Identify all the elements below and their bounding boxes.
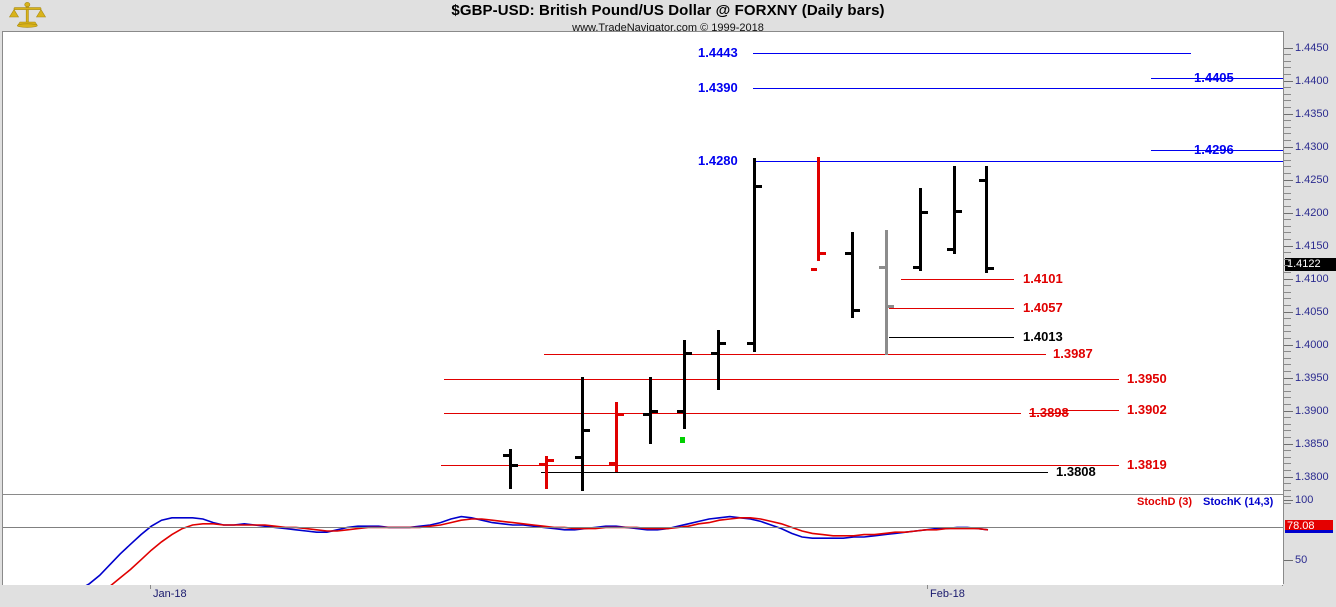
ohlc-bar — [919, 188, 922, 271]
level-label: 1.4013 — [1023, 330, 1063, 343]
axis-minor-tick — [1284, 259, 1291, 260]
price-axis-label: 1.4250 — [1295, 175, 1329, 186]
price-axis-label: 1.4400 — [1295, 76, 1329, 87]
axis-minor-tick — [1284, 358, 1291, 359]
stoch-axis-tick — [1284, 560, 1293, 561]
axis-minor-tick — [1284, 417, 1291, 418]
stoch-legend-item: StochD (3) — [1137, 496, 1192, 508]
axis-minor-tick — [1284, 384, 1291, 385]
level-label: 1.4101 — [1023, 272, 1063, 285]
axis-minor-tick — [1284, 292, 1291, 293]
bar-close-tick — [956, 210, 962, 213]
axis-minor-tick — [1284, 252, 1291, 253]
axis-minor-tick — [1284, 74, 1291, 75]
stoch-lines — [3, 495, 1283, 585]
level-label: 1.3987 — [1053, 347, 1093, 360]
level-line — [753, 161, 1283, 162]
axis-minor-tick — [1284, 239, 1291, 240]
axis-minor-tick — [1284, 173, 1291, 174]
bar-open-tick — [947, 248, 953, 251]
axis-minor-tick — [1284, 331, 1291, 332]
axis-tick — [1284, 213, 1293, 214]
ohlc-bar — [953, 166, 956, 254]
bar-close-tick — [720, 342, 726, 345]
axis-minor-tick — [1284, 232, 1291, 233]
bar-close-tick — [652, 410, 658, 413]
ohlc-bar — [717, 330, 720, 390]
ohlc-bar — [615, 402, 618, 472]
level-label: 1.3808 — [1056, 465, 1096, 478]
axis-minor-tick — [1284, 503, 1291, 504]
axis-tick — [1284, 444, 1293, 445]
stoch-series-line — [17, 518, 988, 585]
level-label: 1.4280 — [698, 154, 738, 167]
price-axis-label: 1.3850 — [1295, 439, 1329, 450]
axis-minor-tick — [1284, 397, 1291, 398]
bar-stem — [885, 230, 888, 355]
axis-minor-tick — [1284, 120, 1291, 121]
bar-open-tick — [643, 413, 649, 416]
bar-close-tick — [888, 305, 894, 308]
price-axis-label: 1.3800 — [1295, 472, 1329, 483]
ohlc-bar — [885, 230, 888, 355]
axis-minor-tick — [1284, 490, 1291, 491]
bar-open-tick — [979, 179, 985, 182]
axis-minor-tick — [1284, 265, 1291, 266]
axis-minor-tick — [1284, 186, 1291, 187]
ohlc-bar — [753, 158, 756, 352]
axis-minor-tick — [1284, 100, 1291, 101]
axis-minor-tick — [1284, 470, 1291, 471]
bar-open-tick — [575, 456, 581, 459]
bar-open-tick — [711, 352, 717, 355]
axis-minor-tick — [1284, 160, 1291, 161]
bar-stem — [985, 166, 988, 273]
last-price-badge: 1.4122 — [1285, 258, 1336, 271]
axis-minor-tick — [1284, 153, 1291, 154]
bar-close-tick — [686, 352, 692, 355]
date-tick — [150, 585, 151, 589]
ohlc-bar — [509, 449, 512, 489]
axis-minor-tick — [1284, 404, 1291, 405]
level-label: 1.4390 — [698, 81, 738, 94]
bar-close-tick — [512, 464, 518, 467]
price-axis-label: 1.3900 — [1295, 406, 1329, 417]
price-axis-label: 1.3950 — [1295, 373, 1329, 384]
ohlc-bar — [985, 166, 988, 273]
axis-minor-tick — [1284, 67, 1291, 68]
bar-open-tick — [913, 266, 919, 269]
axis-minor-tick — [1284, 133, 1291, 134]
bar-close-tick — [548, 459, 554, 462]
axis-minor-tick — [1284, 107, 1291, 108]
axis-minor-tick — [1284, 457, 1291, 458]
axis-tick — [1284, 114, 1293, 115]
ohlc-bar — [851, 232, 854, 318]
level-label: 1.4443 — [698, 46, 738, 59]
level-label: 1.3819 — [1127, 458, 1167, 471]
date-axis-label: Feb-18 — [930, 588, 965, 600]
bar-stem — [851, 232, 854, 318]
axis-minor-tick — [1284, 496, 1291, 497]
level-label: 1.3898 — [1029, 406, 1069, 419]
ohlc-bar — [545, 456, 548, 489]
axis-minor-tick — [1284, 61, 1291, 62]
level-label: 1.3902 — [1127, 403, 1167, 416]
level-line — [544, 354, 1046, 355]
price-axis-label: 1.4300 — [1295, 142, 1329, 153]
date-tick — [927, 585, 928, 589]
axis-minor-tick — [1284, 371, 1291, 372]
axis-minor-tick — [1284, 305, 1291, 306]
axis-minor-tick — [1284, 424, 1291, 425]
axis-minor-tick — [1284, 463, 1291, 464]
axis-minor-tick — [1284, 199, 1291, 200]
level-line — [901, 279, 1014, 280]
chart-application: $GBP-USD: British Pound/US Dollar @ FORX… — [0, 0, 1336, 607]
axis-minor-tick — [1284, 285, 1291, 286]
stoch-axis-tick — [1284, 500, 1293, 501]
date-axis-label: Jan-18 — [153, 588, 187, 600]
level-line — [753, 88, 1283, 89]
up-marker-dot — [680, 437, 685, 443]
page-title: $GBP-USD: British Pound/US Dollar @ FORX… — [0, 2, 1336, 19]
level-label: 1.4405 — [1194, 71, 1234, 84]
price-axis-scale[interactable]: 1.4122 78.08 1.44501.44001.43501.43001.4… — [1283, 31, 1336, 584]
axis-tick — [1284, 378, 1293, 379]
stoch-axis-label: 100 — [1295, 495, 1313, 506]
ohlc-bar — [683, 340, 686, 430]
price-axis-label: 1.4350 — [1295, 109, 1329, 120]
axis-minor-tick — [1284, 483, 1291, 484]
bar-open-tick — [609, 462, 615, 465]
bar-open-tick — [503, 454, 509, 457]
ohlc-bar — [817, 157, 820, 261]
level-line — [889, 337, 1014, 338]
ohlc-bar — [581, 377, 584, 491]
axis-minor-tick — [1284, 298, 1291, 299]
axis-minor-tick — [1284, 450, 1291, 451]
axis-tick — [1284, 345, 1293, 346]
axis-minor-tick — [1284, 364, 1291, 365]
axis-minor-tick — [1284, 226, 1291, 227]
bar-stem — [717, 330, 720, 390]
axis-minor-tick — [1284, 219, 1291, 220]
ohlc-bar — [649, 377, 652, 445]
price-axis-label: 1.4100 — [1295, 274, 1329, 285]
level-label: 1.4057 — [1023, 301, 1063, 314]
level-line — [444, 379, 1119, 380]
bar-open-tick — [879, 266, 885, 269]
stoch-legend-item: StochK (14,3) — [1203, 496, 1273, 508]
axis-minor-tick — [1284, 94, 1291, 95]
date-axis: Jan-18Feb-18 — [2, 585, 1282, 607]
axis-minor-tick — [1284, 193, 1291, 194]
stoch-midline — [3, 527, 1283, 528]
axis-minor-tick — [1284, 140, 1291, 141]
axis-tick — [1284, 48, 1293, 49]
bar-close-tick — [756, 185, 762, 188]
stoch-value-badge: 78.08 — [1285, 520, 1333, 533]
axis-tick — [1284, 246, 1293, 247]
axis-minor-tick — [1284, 127, 1291, 128]
axis-tick — [1284, 279, 1293, 280]
level-label: 1.4296 — [1194, 143, 1234, 156]
price-axis-label: 1.4000 — [1295, 340, 1329, 351]
bar-stem — [581, 377, 584, 491]
axis-minor-tick — [1284, 325, 1291, 326]
axis-minor-tick — [1284, 54, 1291, 55]
price-chart-panel[interactable]: 1.44431.44051.43901.42961.42801.41011.40… — [2, 31, 1283, 494]
axis-tick — [1284, 411, 1293, 412]
bar-open-tick — [845, 252, 851, 255]
axis-minor-tick — [1284, 391, 1291, 392]
bar-close-tick — [988, 267, 994, 270]
axis-tick — [1284, 180, 1293, 181]
axis-tick — [1284, 312, 1293, 313]
stochastic-panel[interactable]: StochD (3)StochK (14,3) — [2, 494, 1283, 586]
axis-minor-tick — [1284, 351, 1291, 352]
level-label: 1.3950 — [1127, 372, 1167, 385]
price-axis-label: 1.4150 — [1295, 241, 1329, 252]
axis-tick — [1284, 147, 1293, 148]
axis-tick — [1284, 81, 1293, 82]
bar-close-tick — [922, 211, 928, 214]
level-line — [541, 472, 1048, 473]
bar-close-tick — [820, 252, 826, 255]
level-line — [444, 413, 1021, 414]
chart-header: $GBP-USD: British Pound/US Dollar @ FORX… — [0, 0, 1336, 30]
bar-open-tick — [677, 410, 683, 413]
bar-stem — [509, 449, 512, 489]
price-axis-label: 1.4050 — [1295, 307, 1329, 318]
bar-close-tick — [854, 309, 860, 312]
level-line — [753, 53, 1191, 54]
stoch-axis-label: 50 — [1295, 555, 1307, 566]
axis-minor-tick — [1284, 338, 1291, 339]
level-line — [889, 308, 1014, 309]
axis-minor-tick — [1284, 166, 1291, 167]
axis-minor-tick — [1284, 318, 1291, 319]
price-axis-label: 1.4200 — [1295, 208, 1329, 219]
bar-close-tick — [618, 413, 624, 416]
bar-close-tick — [584, 429, 590, 432]
level-line — [1064, 410, 1119, 411]
price-axis-label: 1.4450 — [1295, 43, 1329, 54]
bar-open-tick — [539, 463, 545, 466]
axis-minor-tick — [1284, 206, 1291, 207]
axis-minor-tick — [1284, 272, 1291, 273]
bar-open-tick — [811, 268, 817, 271]
bar-stem — [919, 188, 922, 271]
axis-minor-tick — [1284, 87, 1291, 88]
axis-tick — [1284, 477, 1293, 478]
axis-minor-tick — [1284, 430, 1291, 431]
bar-open-tick — [747, 342, 753, 345]
axis-minor-tick — [1284, 437, 1291, 438]
bar-stem — [817, 157, 820, 261]
